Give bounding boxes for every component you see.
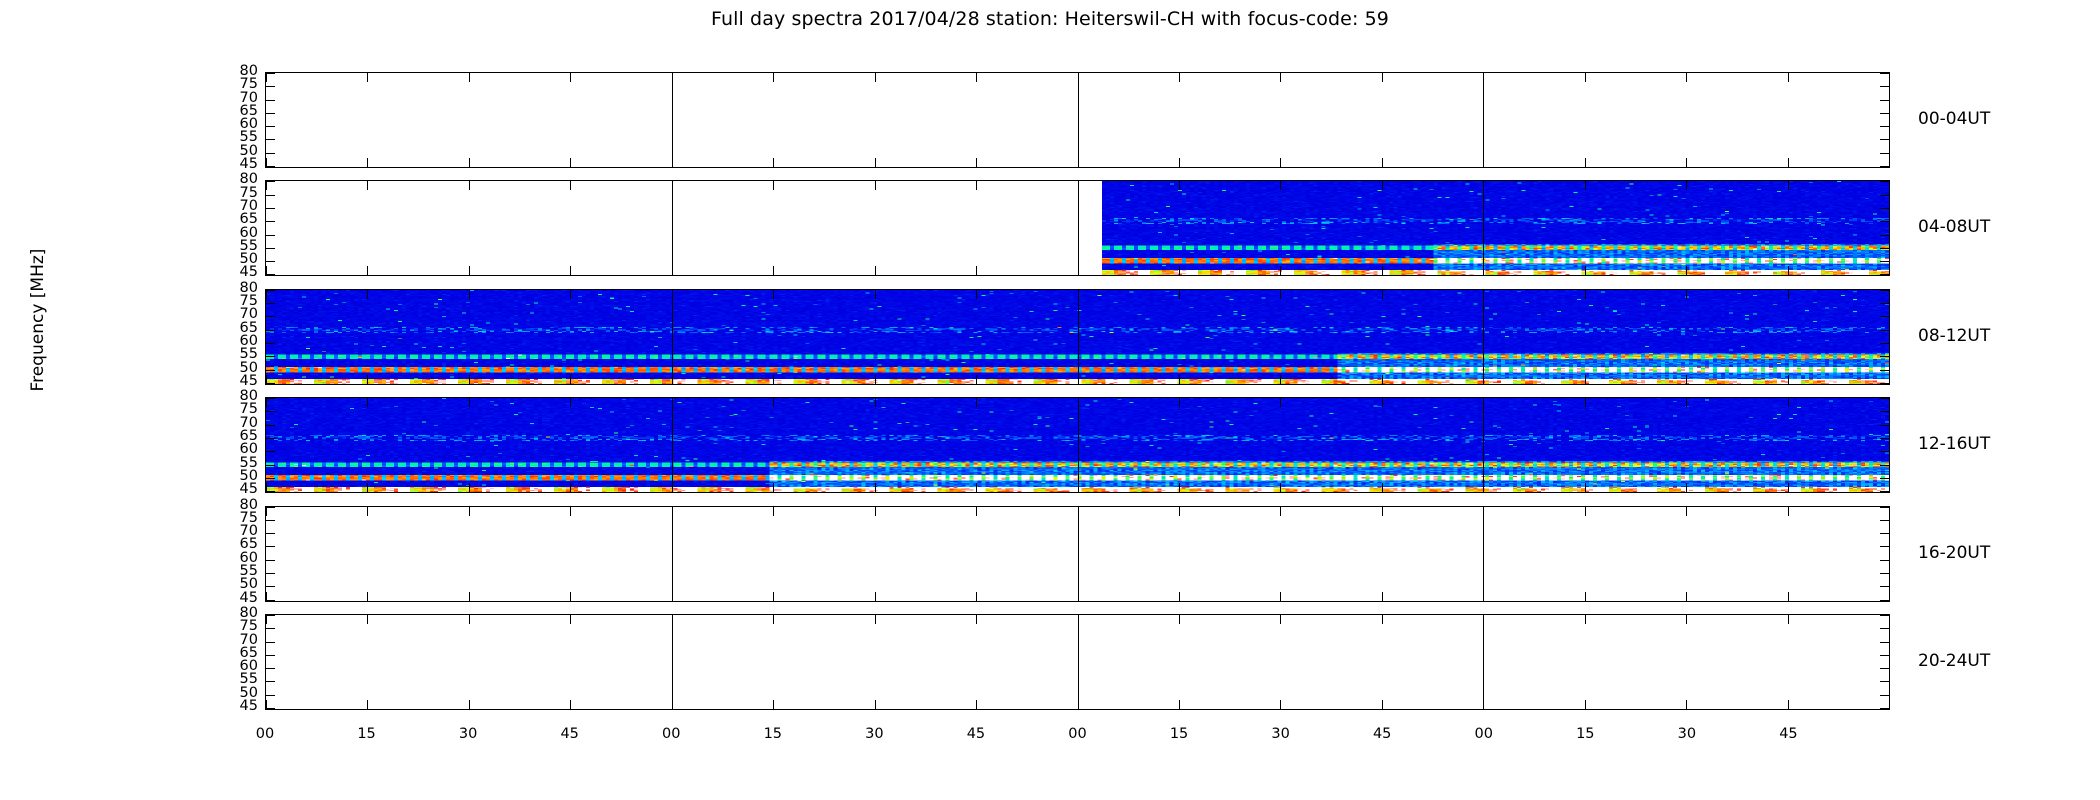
y-tick-mark — [1880, 181, 1889, 182]
y-tick-mark — [1880, 86, 1889, 87]
x-tick-label: 00 — [256, 726, 274, 742]
y-tick-mark — [266, 235, 275, 236]
x-tick-mark-top — [1179, 181, 1180, 190]
x-tick-mark-top — [1078, 181, 1079, 190]
x-tick-mark-top — [1179, 398, 1180, 407]
x-tick-mark — [672, 592, 673, 601]
x-tick-mark-top — [1686, 398, 1687, 407]
y-tick-mark — [266, 221, 275, 222]
x-tick-mark — [1382, 375, 1383, 384]
x-tick-mark-top — [1280, 290, 1281, 299]
y-tick-mark — [266, 343, 275, 344]
y-tick-mark — [1880, 370, 1889, 371]
x-tick-label: 30 — [865, 726, 883, 742]
x-tick-mark — [1179, 483, 1180, 492]
x-tick-mark — [1788, 375, 1789, 384]
x-tick-mark — [1686, 592, 1687, 601]
x-tick-mark — [1686, 266, 1687, 275]
grid-line-vertical — [1483, 615, 1484, 709]
x-tick-mark — [1280, 483, 1281, 492]
x-tick-mark — [1382, 700, 1383, 709]
x-tick-mark-top — [570, 615, 571, 624]
x-tick-mark-top — [469, 507, 470, 516]
x-tick-mark-top — [1788, 181, 1789, 190]
x-tick-label: 15 — [764, 726, 782, 742]
x-tick-mark — [1483, 483, 1484, 492]
grid-line-vertical — [1078, 73, 1079, 167]
x-tick-mark-top — [367, 615, 368, 624]
x-tick-mark — [1382, 592, 1383, 601]
x-tick-mark — [672, 266, 673, 275]
x-tick-mark — [469, 158, 470, 167]
x-tick-mark-top — [1483, 181, 1484, 190]
y-tick-mark — [1880, 438, 1889, 439]
x-tick-mark-top — [1686, 615, 1687, 624]
y-tick-mark — [266, 86, 275, 87]
grid-line-vertical — [1078, 290, 1079, 384]
grid-line-vertical — [672, 181, 673, 275]
y-tick-label: 55 — [240, 674, 258, 685]
x-tick-mark-top — [1280, 398, 1281, 407]
y-tick-mark — [266, 451, 275, 452]
spectrogram-image — [1102, 181, 1889, 275]
x-tick-mark-top — [1078, 507, 1079, 516]
x-tick-mark — [875, 592, 876, 601]
y-tick-mark — [266, 560, 275, 561]
x-tick-mark — [1585, 483, 1586, 492]
y-tick-mark — [1880, 343, 1889, 344]
grid-line-vertical — [1078, 398, 1079, 492]
y-tick-label: 50 — [240, 579, 258, 590]
x-tick-mark-top — [1686, 73, 1687, 82]
y-tick-mark — [1880, 398, 1889, 399]
x-tick-mark-top — [469, 181, 470, 190]
y-tick-mark — [266, 73, 275, 74]
y-tick-mark — [1880, 356, 1889, 357]
y-tick-mark — [266, 356, 275, 357]
x-tick-mark-top — [1585, 73, 1586, 82]
row-label-08-12ut: 08-12UT — [1918, 326, 1990, 346]
spectrogram-row-04-08ut[interactable] — [265, 180, 1890, 276]
y-tick-mark — [1880, 681, 1889, 682]
y-tick-mark — [1880, 235, 1889, 236]
y-tick-mark — [1880, 139, 1889, 140]
y-tick-mark — [266, 438, 275, 439]
y-tick-mark — [266, 615, 275, 616]
x-tick-mark-top — [1788, 290, 1789, 299]
x-tick-mark-top — [1686, 181, 1687, 190]
y-tick-mark — [1880, 290, 1889, 291]
y-tick-label: 70 — [240, 93, 258, 104]
y-tick-mark — [266, 642, 275, 643]
x-tick-mark — [773, 592, 774, 601]
x-tick-mark — [367, 375, 368, 384]
x-tick-mark — [672, 483, 673, 492]
x-tick-mark-top — [672, 73, 673, 82]
x-tick-mark-top — [367, 181, 368, 190]
y-tick-mark — [266, 100, 275, 101]
y-tick-label: 45 — [240, 159, 258, 170]
x-tick-mark — [1078, 483, 1079, 492]
x-tick-label: 30 — [1678, 726, 1696, 742]
x-tick-mark-top — [1179, 507, 1180, 516]
x-tick-mark — [1280, 700, 1281, 709]
y-tick-mark — [266, 248, 275, 249]
x-tick-mark — [1280, 266, 1281, 275]
y-tick-mark — [266, 668, 275, 669]
x-tick-mark — [1585, 700, 1586, 709]
x-tick-mark-top — [1585, 507, 1586, 516]
y-tick-mark — [266, 261, 275, 262]
x-tick-mark — [875, 266, 876, 275]
x-tick-mark — [1078, 375, 1079, 384]
y-tick-mark — [1880, 478, 1889, 479]
grid-line-vertical — [672, 615, 673, 709]
y-tick-mark — [1880, 520, 1889, 521]
x-tick-mark-top — [773, 73, 774, 82]
x-tick-mark-top — [672, 290, 673, 299]
x-tick-mark — [1078, 700, 1079, 709]
y-tick-label: 45 — [240, 593, 258, 604]
x-tick-mark-top — [1585, 398, 1586, 407]
x-tick-mark — [1788, 158, 1789, 167]
y-tick-label: 70 — [240, 309, 258, 320]
x-tick-mark — [469, 700, 470, 709]
y-tick-mark — [266, 655, 275, 656]
x-tick-mark-top — [976, 615, 977, 624]
y-tick-mark — [1880, 586, 1889, 587]
y-tick-mark — [1880, 628, 1889, 629]
x-tick-mark — [469, 592, 470, 601]
y-tick-mark — [1880, 546, 1889, 547]
y-tick-mark — [1880, 274, 1889, 275]
x-tick-mark-top — [1280, 181, 1281, 190]
y-tick-mark — [1880, 126, 1889, 127]
x-tick-mark — [266, 266, 267, 275]
x-tick-mark — [672, 700, 673, 709]
x-tick-mark — [1280, 375, 1281, 384]
y-tick-mark — [266, 290, 275, 291]
x-tick-mark — [570, 158, 571, 167]
row-label-00-04ut: 00-04UT — [1918, 109, 1990, 129]
x-tick-mark-top — [875, 507, 876, 516]
x-tick-mark-top — [367, 507, 368, 516]
x-tick-mark — [367, 483, 368, 492]
x-tick-mark-top — [1078, 398, 1079, 407]
x-tick-mark-top — [1078, 615, 1079, 624]
spectrogram-row-12-16ut[interactable] — [265, 397, 1890, 493]
x-tick-label: 45 — [1373, 726, 1391, 742]
x-tick-mark-top — [672, 507, 673, 516]
x-tick-mark — [266, 592, 267, 601]
x-tick-mark — [1483, 375, 1484, 384]
x-tick-mark-top — [469, 398, 470, 407]
x-tick-mark-top — [672, 398, 673, 407]
spectrogram-row-20-24ut[interactable] — [265, 614, 1890, 710]
grid-line-vertical — [1483, 73, 1484, 167]
x-tick-mark — [570, 700, 571, 709]
x-tick-mark-top — [672, 615, 673, 624]
grid-line-vertical — [672, 398, 673, 492]
grid-line-vertical — [1483, 398, 1484, 492]
x-tick-mark-top — [1382, 73, 1383, 82]
x-tick-label: 30 — [459, 726, 477, 742]
y-tick-label: 45 — [240, 701, 258, 712]
x-tick-mark — [1585, 375, 1586, 384]
x-tick-mark — [570, 375, 571, 384]
y-tick-mark — [266, 166, 275, 167]
x-tick-mark-top — [976, 181, 977, 190]
x-tick-mark-top — [469, 290, 470, 299]
y-tick-mark — [266, 533, 275, 534]
grid-line-vertical — [672, 290, 673, 384]
x-tick-mark-top — [1179, 615, 1180, 624]
x-tick-mark — [1179, 375, 1180, 384]
x-tick-mark — [1686, 700, 1687, 709]
x-tick-mark — [1179, 266, 1180, 275]
y-tick-mark — [1880, 465, 1889, 466]
x-tick-mark — [1788, 592, 1789, 601]
x-tick-mark — [266, 700, 267, 709]
x-tick-mark — [266, 158, 267, 167]
x-tick-mark — [1382, 483, 1383, 492]
x-tick-mark — [1483, 266, 1484, 275]
y-tick-label: 75 — [240, 79, 258, 90]
y-tick-mark — [1880, 695, 1889, 696]
x-tick-mark-top — [1686, 507, 1687, 516]
x-tick-mark-top — [875, 398, 876, 407]
x-tick-mark — [266, 483, 267, 492]
y-tick-mark — [1880, 560, 1889, 561]
x-tick-mark-top — [1382, 507, 1383, 516]
y-tick-mark — [1880, 153, 1889, 154]
y-tick-mark — [1880, 303, 1889, 304]
x-tick-mark-top — [367, 73, 368, 82]
y-tick-label: 65 — [240, 539, 258, 550]
x-tick-mark-top — [875, 181, 876, 190]
grid-line-vertical — [1483, 507, 1484, 601]
grid-line-vertical — [672, 73, 673, 167]
y-tick-mark — [1880, 195, 1889, 196]
x-tick-mark-top — [773, 507, 774, 516]
x-tick-mark-top — [266, 398, 267, 407]
y-tick-mark — [266, 573, 275, 574]
page-title: Full day spectra 2017/04/28 station: Hei… — [0, 8, 2100, 30]
x-tick-mark — [367, 266, 368, 275]
x-tick-mark — [976, 266, 977, 275]
y-tick-mark — [1880, 507, 1889, 508]
x-tick-mark — [773, 158, 774, 167]
x-tick-mark — [1788, 700, 1789, 709]
x-tick-mark-top — [570, 181, 571, 190]
x-tick-mark-top — [773, 181, 774, 190]
x-tick-mark-top — [1585, 181, 1586, 190]
x-tick-mark — [1585, 158, 1586, 167]
y-tick-mark — [266, 586, 275, 587]
x-tick-mark — [1179, 592, 1180, 601]
y-tick-mark — [266, 681, 275, 682]
y-tick-mark — [266, 139, 275, 140]
x-tick-mark-top — [1788, 73, 1789, 82]
x-tick-mark — [1382, 266, 1383, 275]
x-tick-mark — [1585, 592, 1586, 601]
y-tick-mark — [266, 208, 275, 209]
grid-line-vertical — [1483, 290, 1484, 384]
x-tick-label: 45 — [1779, 726, 1797, 742]
x-tick-mark — [1686, 375, 1687, 384]
x-tick-mark-top — [570, 398, 571, 407]
x-tick-label: 45 — [560, 726, 578, 742]
y-tick-label: 75 — [240, 404, 258, 415]
grid-line-vertical — [672, 507, 673, 601]
spectrogram-row-08-12ut[interactable] — [265, 289, 1890, 385]
x-tick-mark-top — [266, 615, 267, 624]
x-tick-mark — [1585, 266, 1586, 275]
grid-line-vertical — [1078, 615, 1079, 709]
y-tick-mark — [1880, 166, 1889, 167]
x-tick-mark — [266, 375, 267, 384]
x-tick-mark — [976, 700, 977, 709]
x-tick-mark — [1078, 266, 1079, 275]
y-tick-mark — [266, 195, 275, 196]
x-tick-mark-top — [367, 398, 368, 407]
y-tick-label: 55 — [240, 349, 258, 360]
x-tick-mark — [469, 375, 470, 384]
x-tick-mark — [367, 700, 368, 709]
y-tick-mark — [266, 181, 275, 182]
row-label-04-08ut: 04-08UT — [1918, 217, 1990, 237]
x-tick-mark-top — [1788, 615, 1789, 624]
x-tick-mark-top — [1280, 73, 1281, 82]
x-tick-mark-top — [1078, 290, 1079, 299]
x-tick-mark — [570, 483, 571, 492]
y-tick-mark — [1880, 261, 1889, 262]
x-tick-mark — [1686, 158, 1687, 167]
x-tick-mark — [367, 158, 368, 167]
x-tick-mark — [976, 592, 977, 601]
x-tick-mark-top — [976, 398, 977, 407]
x-tick-mark-top — [1179, 73, 1180, 82]
y-tick-label: 65 — [240, 323, 258, 334]
row-label-16-20ut: 16-20UT — [1918, 543, 1990, 563]
x-tick-mark-top — [1078, 73, 1079, 82]
y-tick-mark — [1880, 491, 1889, 492]
x-tick-mark-top — [1483, 73, 1484, 82]
y-tick-label: 45 — [240, 484, 258, 495]
x-tick-mark-top — [1280, 507, 1281, 516]
x-tick-mark-top — [469, 73, 470, 82]
x-tick-mark — [976, 375, 977, 384]
y-tick-mark — [266, 274, 275, 275]
y-tick-mark — [1880, 668, 1889, 669]
y-tick-mark — [1880, 248, 1889, 249]
x-tick-mark-top — [976, 290, 977, 299]
x-tick-mark — [1280, 158, 1281, 167]
x-tick-mark-top — [1585, 615, 1586, 624]
x-tick-mark — [1179, 700, 1180, 709]
x-tick-mark-top — [1483, 398, 1484, 407]
x-tick-mark-top — [672, 181, 673, 190]
x-tick-mark-top — [570, 507, 571, 516]
x-tick-mark-top — [1788, 507, 1789, 516]
y-tick-mark — [266, 113, 275, 114]
row-label-20-24ut: 20-24UT — [1918, 651, 1990, 671]
y-tick-mark — [1880, 221, 1889, 222]
y-tick-mark — [266, 383, 275, 384]
y-tick-mark — [266, 303, 275, 304]
y-tick-label: 55 — [240, 458, 258, 469]
x-tick-label: 15 — [357, 726, 375, 742]
x-axis-tick-labels: 00153045001530450015304500153045 — [265, 726, 1890, 752]
grid-line-vertical — [1078, 507, 1079, 601]
x-tick-mark-top — [1585, 290, 1586, 299]
x-tick-mark — [469, 266, 470, 275]
y-tick-mark — [1880, 316, 1889, 317]
y-tick-mark — [1880, 642, 1889, 643]
y-tick-mark — [1880, 655, 1889, 656]
x-tick-mark — [875, 158, 876, 167]
x-tick-mark-top — [570, 290, 571, 299]
x-tick-mark — [1788, 483, 1789, 492]
y-tick-label: 60 — [240, 444, 258, 455]
x-tick-label: 00 — [662, 726, 680, 742]
x-tick-label: 00 — [1475, 726, 1493, 742]
y-tick-mark — [266, 478, 275, 479]
x-tick-mark-top — [367, 290, 368, 299]
spectrogram-row-16-20ut[interactable] — [265, 506, 1890, 602]
x-tick-mark — [773, 483, 774, 492]
x-tick-label: 15 — [1170, 726, 1188, 742]
x-tick-mark — [875, 483, 876, 492]
x-tick-mark — [1078, 158, 1079, 167]
x-tick-mark — [672, 375, 673, 384]
y-tick-mark — [266, 370, 275, 371]
y-tick-mark — [266, 491, 275, 492]
x-tick-mark-top — [1382, 398, 1383, 407]
x-tick-mark-top — [1483, 507, 1484, 516]
row-label-12-16ut: 12-16UT — [1918, 434, 1990, 454]
y-tick-mark — [266, 520, 275, 521]
x-tick-mark — [1788, 266, 1789, 275]
y-tick-mark — [1880, 100, 1889, 101]
x-tick-mark — [570, 592, 571, 601]
y-tick-mark — [1880, 73, 1889, 74]
x-tick-mark-top — [469, 615, 470, 624]
y-tick-label: 65 — [240, 214, 258, 225]
spectrogram-row-00-04ut[interactable] — [265, 72, 1890, 168]
grid-line-vertical — [1078, 181, 1079, 275]
x-tick-mark-top — [1179, 290, 1180, 299]
x-tick-mark-top — [1280, 615, 1281, 624]
x-tick-mark — [1179, 158, 1180, 167]
x-tick-mark-top — [976, 73, 977, 82]
y-tick-label: 80 — [240, 500, 258, 511]
x-tick-mark — [1078, 592, 1079, 601]
x-tick-mark-top — [773, 398, 774, 407]
x-tick-mark — [1483, 158, 1484, 167]
x-tick-mark-top — [875, 615, 876, 624]
x-tick-mark — [875, 700, 876, 709]
x-tick-mark-top — [1382, 290, 1383, 299]
y-tick-label: 45 — [240, 376, 258, 387]
x-tick-mark-top — [266, 73, 267, 82]
x-tick-mark-top — [1788, 398, 1789, 407]
y-tick-label: 60 — [240, 228, 258, 239]
y-tick-mark — [1880, 330, 1889, 331]
x-tick-mark — [773, 266, 774, 275]
y-tick-mark — [1880, 411, 1889, 412]
y-tick-label: 70 — [240, 635, 258, 646]
